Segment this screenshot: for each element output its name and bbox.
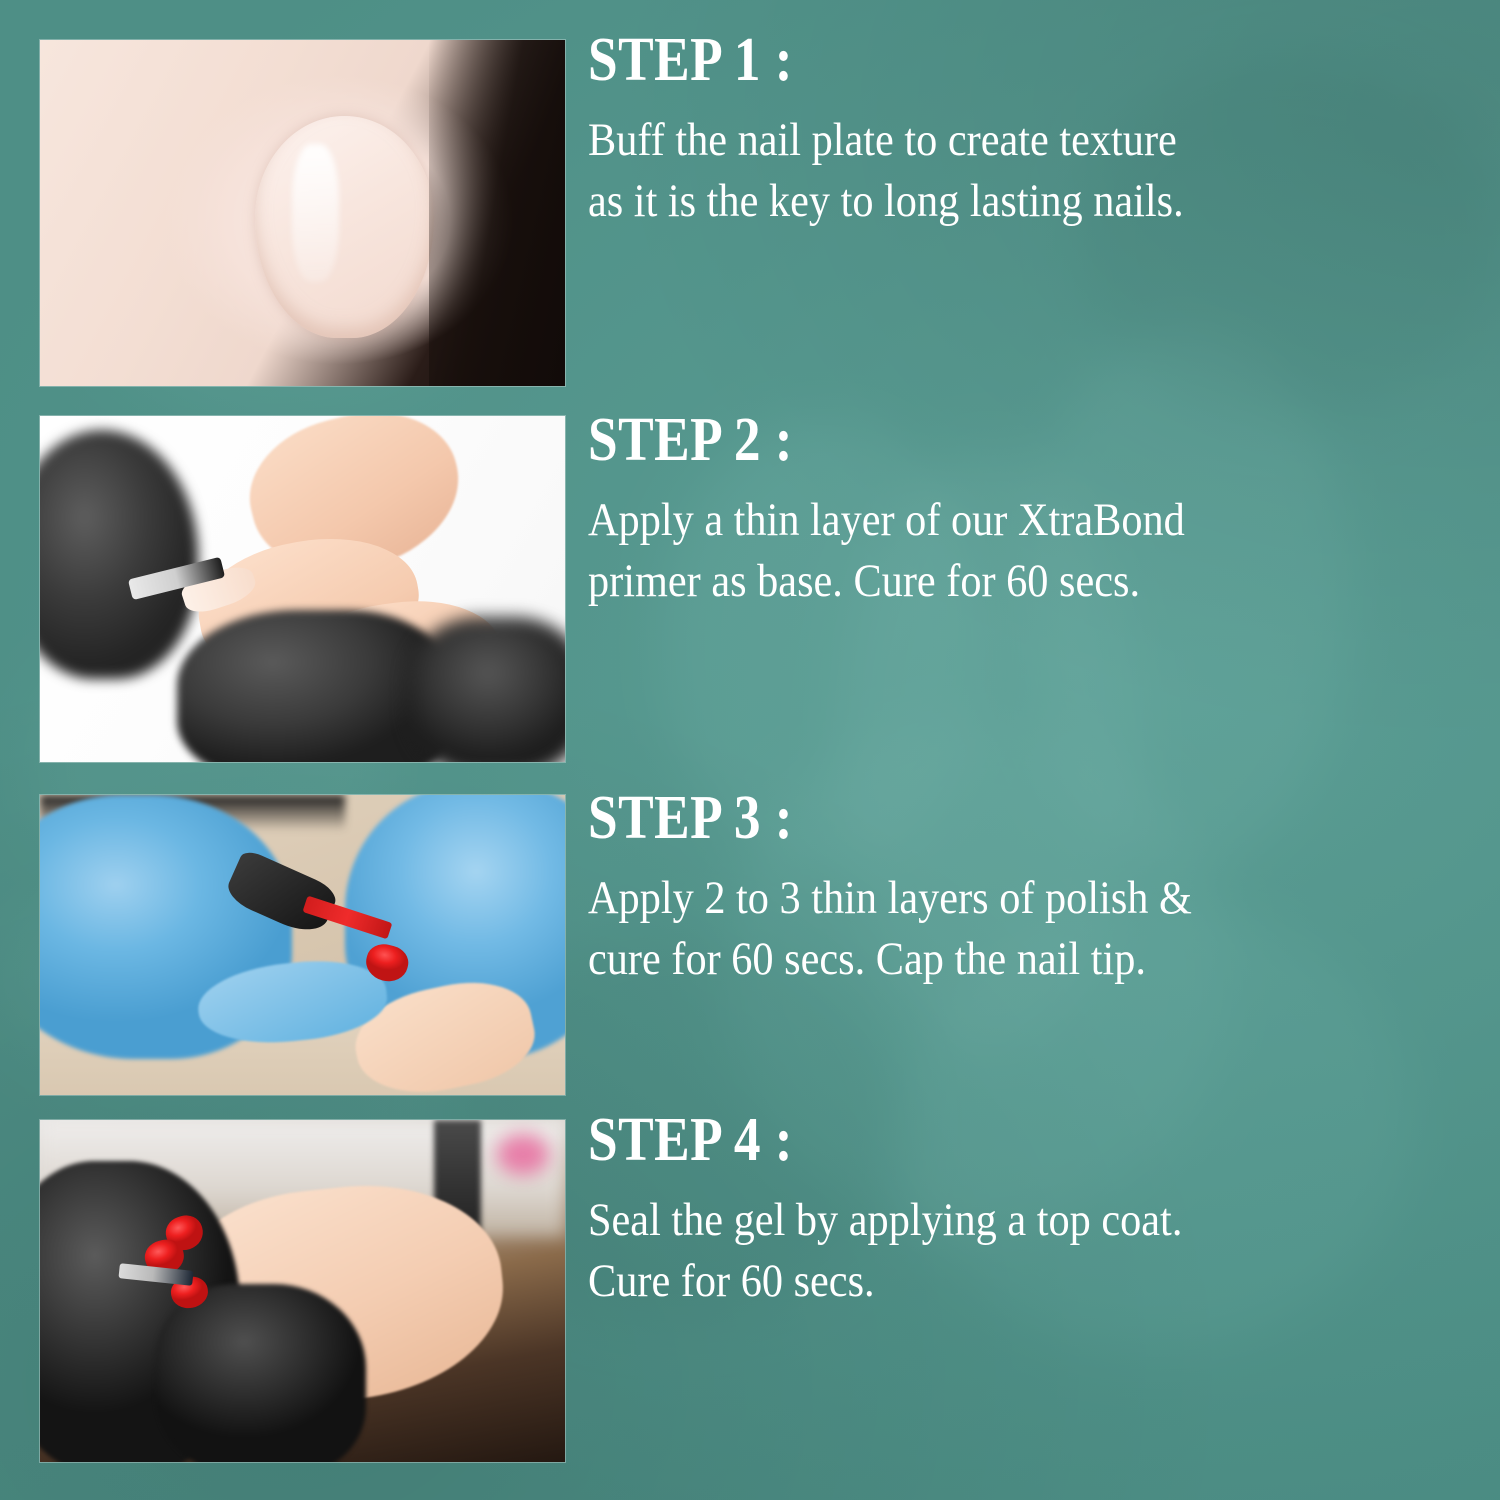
step-1-body: Buff the nail plate to create texture as… (588, 110, 1380, 232)
nail-shape (255, 116, 434, 337)
step-4-body-line-1: Seal the gel by applying a top coat. (588, 1190, 1380, 1251)
background-pink-object (497, 1134, 550, 1175)
step-4-heading: STEP 4 : (588, 1108, 1345, 1174)
black-glove (156, 1284, 366, 1462)
step-3-block: STEP 3 : Apply 2 to 3 thin layers of pol… (588, 786, 1468, 990)
step-1-body-line-2: as it is the key to long lasting nails. (588, 171, 1380, 232)
step-1-body-line-1: Buff the nail plate to create texture (588, 110, 1380, 171)
step-4-block: STEP 4 : Seal the gel by applying a top … (588, 1108, 1468, 1312)
step-3-heading: STEP 3 : (588, 786, 1345, 852)
step-3-body-line-2: cure for 60 secs. Cap the nail tip. (588, 929, 1380, 990)
step-3-photo (40, 795, 565, 1095)
step-2-body-line-1: Apply a thin layer of our XtraBond (588, 490, 1380, 551)
step-1-photo (40, 40, 565, 386)
step-2-block: STEP 2 : Apply a thin layer of our XtraB… (588, 408, 1468, 612)
step-4-body-line-2: Cure for 60 secs. (588, 1251, 1380, 1312)
step-2-photo (40, 416, 565, 762)
step-2-body-line-2: primer as base. Cure for 60 secs. (588, 551, 1380, 612)
step-2-body: Apply a thin layer of our XtraBond prime… (588, 490, 1380, 612)
step-2-heading: STEP 2 : (588, 408, 1345, 474)
step-3-body: Apply 2 to 3 thin layers of polish & cur… (588, 868, 1380, 990)
step-4-photo (40, 1120, 565, 1462)
step-1-block: STEP 1 : Buff the nail plate to create t… (588, 28, 1468, 232)
nail-highlight (292, 144, 339, 282)
steps-text-column: STEP 1 : Buff the nail plate to create t… (588, 0, 1468, 1500)
step-1-heading: STEP 1 : (588, 28, 1345, 94)
instructional-graphic: STEP 1 : Buff the nail plate to create t… (0, 0, 1500, 1500)
step-4-body: Seal the gel by applying a top coat. Cur… (588, 1190, 1380, 1312)
black-glove (408, 617, 566, 762)
step-3-body-line-1: Apply 2 to 3 thin layers of polish & (588, 868, 1380, 929)
black-glove (40, 430, 198, 679)
photo-shadow (429, 40, 566, 386)
